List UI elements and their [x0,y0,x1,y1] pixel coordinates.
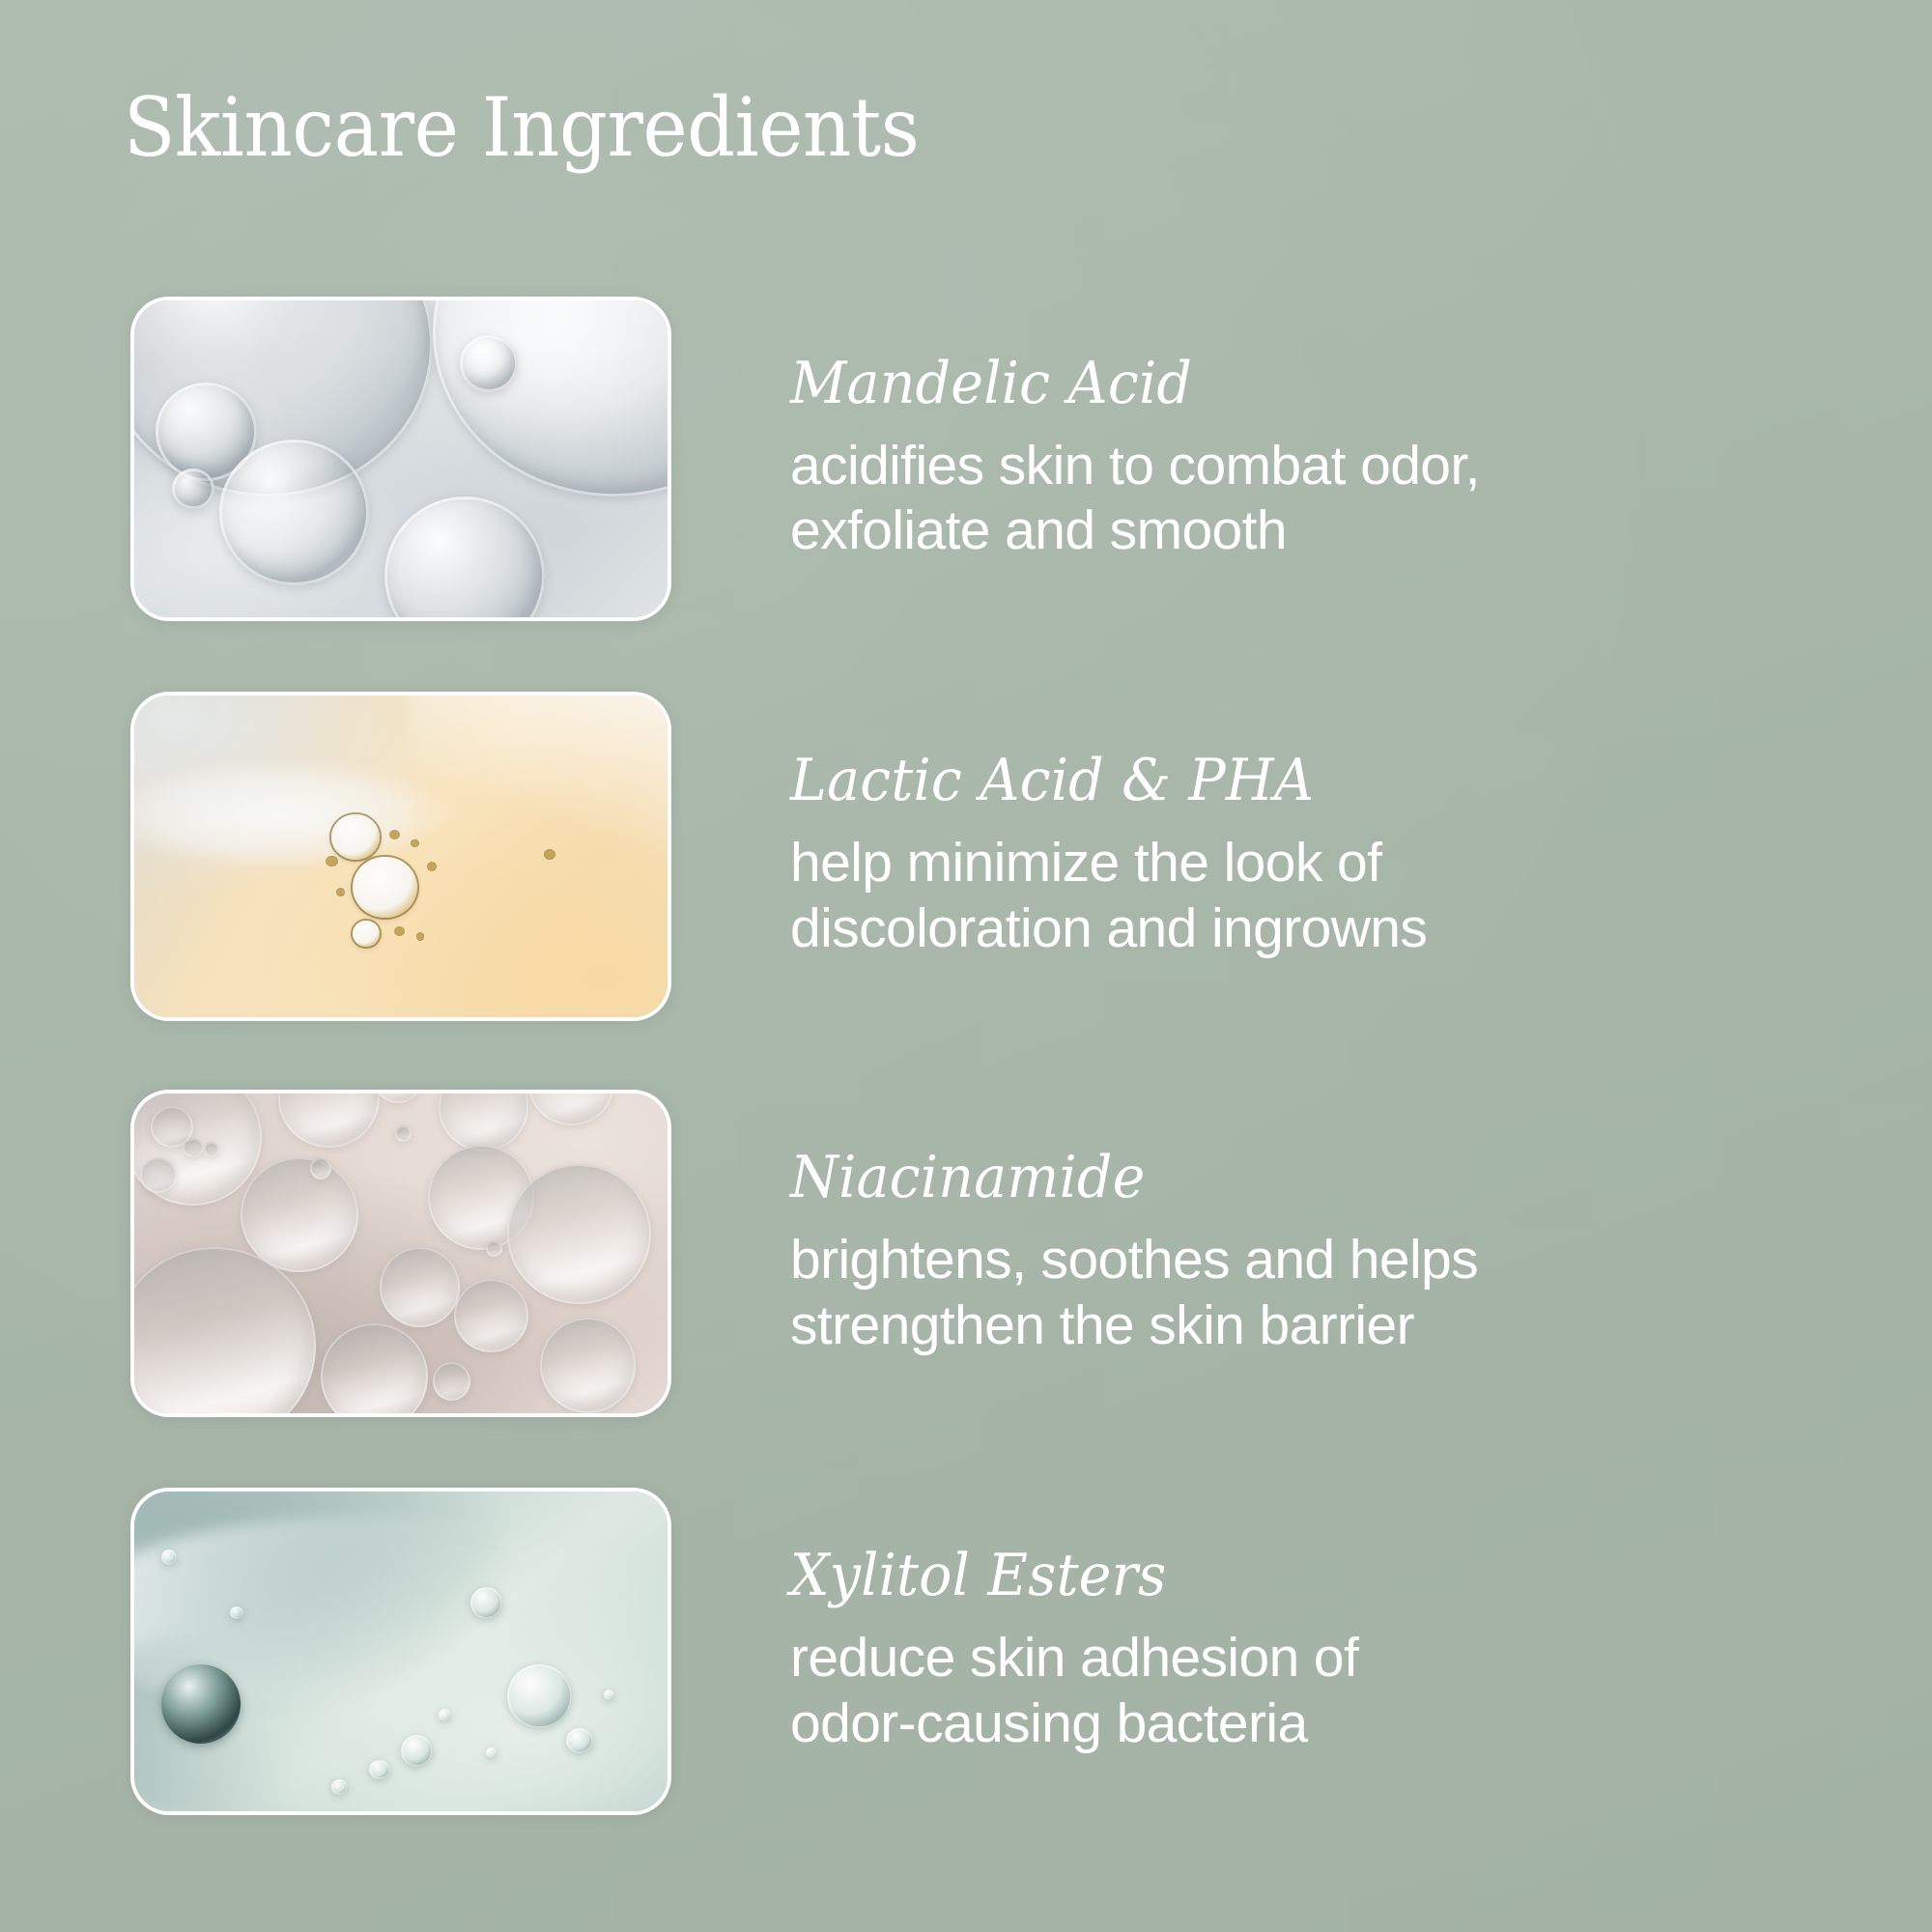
description-line: exfoliate and smooth [790,498,1785,563]
bubble-large-right [507,1164,651,1305]
ingredient-text-lactic-acid-pha: Lactic Acid & PHA help minimize the look… [790,752,1785,961]
ingredient-image-pink-taupe-bubbles [130,1090,671,1417]
ingredient-description: reduce skin adhesion of odor-causing bac… [790,1626,1785,1756]
droplet-large-center [219,440,369,585]
cream-streak-right [412,692,671,895]
oil-bubble-lower [353,921,380,947]
ingredient-description: help minimize the look of discoloration … [790,831,1785,961]
bubble-speck [395,1125,412,1142]
bubble-small-left-lower [140,1157,178,1192]
gel-bubble-small-right [566,1728,593,1753]
ingredient-description: acidifies skin to combat odor, exfoliate… [790,434,1785,564]
description-line: brightens, soothes and helps [790,1228,1785,1293]
ingredient-image-silver-water-droplets [130,297,671,621]
oil-bubble-speck [390,831,399,838]
ingredient-image-golden-oil-bubbles [130,692,671,1021]
oil-bubble-speck [417,933,424,939]
ingredient-row-mandelic-acid: Mandelic Acid acidifies skin to combat o… [0,297,1932,621]
oil-bubble-upper [331,814,380,860]
ingredient-description: brightens, soothes and helps strengthen … [790,1228,1785,1358]
gel-bubble-bottom-center [401,1735,433,1767]
gel-bubble-speck [331,1779,348,1796]
bubble-bottom-far-right [540,1318,636,1413]
ingredients-infographic: Skincare Ingredients Mandelic Acid acidi… [0,0,1932,1932]
ingredient-name: Xylitol Esters [790,1547,1736,1605]
oil-bubble-speck [545,850,554,859]
droplet-small-upper-right [460,335,519,392]
ingredient-name: Lactic Acid & PHA [790,752,1736,810]
page-title: Skincare Ingredients [124,85,919,170]
bubble-center-left [241,1157,357,1272]
ingredient-row-xylitol-esters: Xylitol Esters reduce skin adhesion of o… [0,1488,1932,1815]
ingredient-text-mandelic-acid: Mandelic Acid acidifies skin to combat o… [790,355,1785,564]
gel-bubble-upper-right [470,1587,502,1619]
gel-bubble-right [507,1664,571,1728]
droplet-tiny-left [172,469,214,510]
ingredient-row-lactic-acid-pha: Lactic Acid & PHA help minimize the look… [0,692,1932,1021]
oil-bubble-speck [428,863,436,870]
description-line: acidifies skin to combat odor, [790,434,1785,498]
bubble-speck [486,1240,502,1257]
description-line: strengthen the skin barrier [790,1293,1785,1358]
description-line: discoloration and ingrowns [790,896,1785,961]
ingredient-row-niacinamide: Niacinamide brightens, soothes and helps… [0,1090,1932,1417]
description-line: reduce skin adhesion of [790,1626,1785,1690]
bubble-tiny [183,1138,204,1157]
ingredient-text-xylitol-esters: Xylitol Esters reduce skin adhesion of o… [790,1547,1785,1756]
description-line: help minimize the look of [790,831,1785,895]
oil-bubble-speck [412,840,418,846]
bubble-bottom-center [380,1247,460,1327]
ingredient-text-niacinamide: Niacinamide brightens, soothes and helps… [790,1149,1785,1358]
oil-bubble-speck [327,857,337,867]
gel-bubble-small [369,1760,390,1779]
description-line: odor-causing bacteria [790,1691,1785,1756]
bubble-bottom-mid [321,1323,427,1417]
bubble-bottom-right [454,1279,528,1352]
ingredient-image-mint-green-gel [130,1488,671,1815]
oil-bubble-large [353,857,416,918]
gel-bubble-speck [161,1549,178,1566]
ingredient-name: Mandelic Acid [790,355,1736,412]
bubble-small-bottom [433,1362,470,1401]
ingredient-name: Niacinamide [790,1149,1736,1207]
